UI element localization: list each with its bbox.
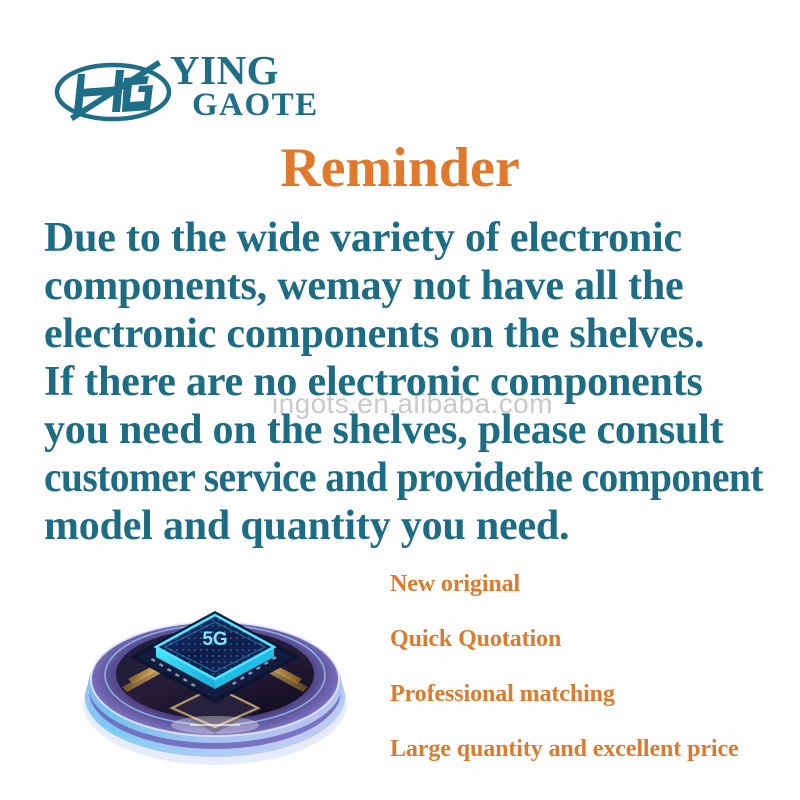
feature-list: New original Quick Quotation Professiona… xyxy=(390,572,790,761)
body-line: If there are no electronic components xyxy=(44,358,770,406)
body-line: Due to the wide variety of electronic xyxy=(44,214,770,262)
brand-wordmark: YING GAOTE xyxy=(170,52,350,126)
5g-processor-chip-on-disc-illustration: 5G xyxy=(72,575,358,780)
hg-monogram-ellipse-logo xyxy=(52,50,174,126)
page-title: Reminder xyxy=(0,140,800,196)
body-line: electronic components on the shelves. xyxy=(44,310,770,358)
brand-name-line-2: GAOTE xyxy=(170,90,350,120)
reminder-paragraph: Due to the wide variety of electronic co… xyxy=(44,214,770,550)
chip-label: 5G xyxy=(202,629,227,650)
list-item: New original xyxy=(390,572,790,596)
body-line: model and quantity you need. xyxy=(44,502,770,550)
brand-logo: YING GAOTE xyxy=(52,48,352,130)
body-line: you need on the shelves, please consult xyxy=(44,406,770,454)
promo-banner: YING GAOTE Reminder Due to the wide vari… xyxy=(0,0,800,800)
list-item: Large quantity and excellent price xyxy=(390,737,790,761)
brand-name-line-1: YING xyxy=(170,52,350,90)
body-line: components, wemay not have all the xyxy=(44,262,770,310)
list-item: Professional matching xyxy=(390,682,790,706)
list-item: Quick Quotation xyxy=(390,627,790,651)
body-line: customer service and providethe componen… xyxy=(44,454,726,502)
